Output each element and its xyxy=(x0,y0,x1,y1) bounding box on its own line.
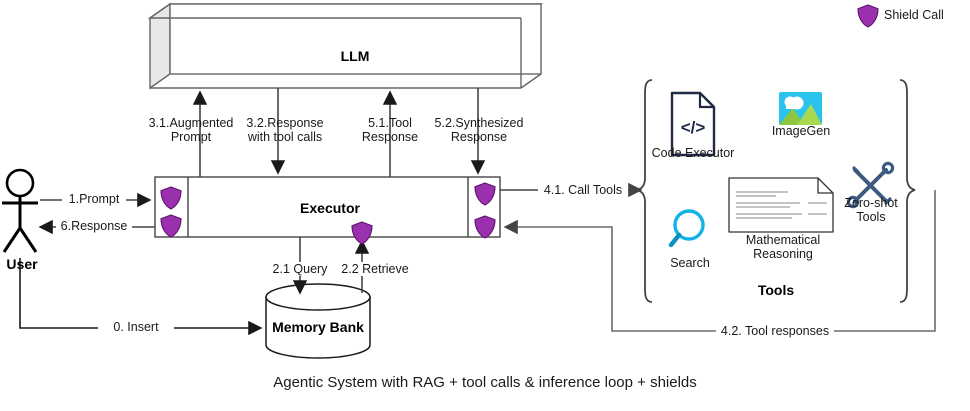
tool-label-zero-shot: Zero-shot Tools xyxy=(832,196,910,224)
edge-label-tool-response-up: 5.1.Tool Response xyxy=(348,116,432,144)
tools-left-brace xyxy=(637,80,652,302)
insert-path xyxy=(20,258,261,328)
llm-title: LLM xyxy=(270,48,440,64)
edge-label-aug-prompt: 3.1.Augmented Prompt xyxy=(139,116,243,144)
tool-label-math: Mathematical Reasoning xyxy=(731,233,835,261)
math-document-icon xyxy=(729,178,833,232)
image-icon xyxy=(779,92,822,125)
edge-label-response: 6.Response xyxy=(56,219,132,233)
executor-title: Executor xyxy=(245,200,415,216)
edge-label-resp-tools: 3.2.Response with tool calls xyxy=(233,116,337,144)
shield-icon-center xyxy=(352,222,372,244)
svg-text:</>: </> xyxy=(681,118,706,137)
edge-label-synth: 5.2.Synthesized Response xyxy=(424,116,534,144)
tools-group-title: Tools xyxy=(716,282,836,298)
tool-label-imagegen: ImageGen xyxy=(758,124,844,138)
tools-right-brace xyxy=(900,80,915,302)
user-stick-figure xyxy=(2,170,38,252)
tool-label-code-executor: Code Executor xyxy=(648,146,738,160)
diagram-canvas: </> xyxy=(0,0,970,411)
shield-icon-legend xyxy=(858,5,878,27)
edge-label-query: 2.1 Query xyxy=(266,262,334,276)
edge-label-call-tools: 4.1. Call Tools xyxy=(538,183,628,197)
edge-label-tool-resp: 4.2. Tool responses xyxy=(716,324,834,338)
user-title: User xyxy=(0,256,44,272)
tool-label-search: Search xyxy=(654,256,726,270)
caption: Agentic System with RAG + tool calls & i… xyxy=(0,374,970,391)
magnifier-icon xyxy=(671,211,703,245)
edge-label-prompt: 1.Prompt xyxy=(62,192,126,206)
edge-label-retrieve: 2.2 Retrieve xyxy=(334,262,416,276)
llm-box xyxy=(150,4,541,88)
edge-label-insert: 0. Insert xyxy=(98,320,174,334)
legend-label: Shield Call xyxy=(884,8,970,22)
memory-bank-title: Memory Bank xyxy=(248,319,388,335)
